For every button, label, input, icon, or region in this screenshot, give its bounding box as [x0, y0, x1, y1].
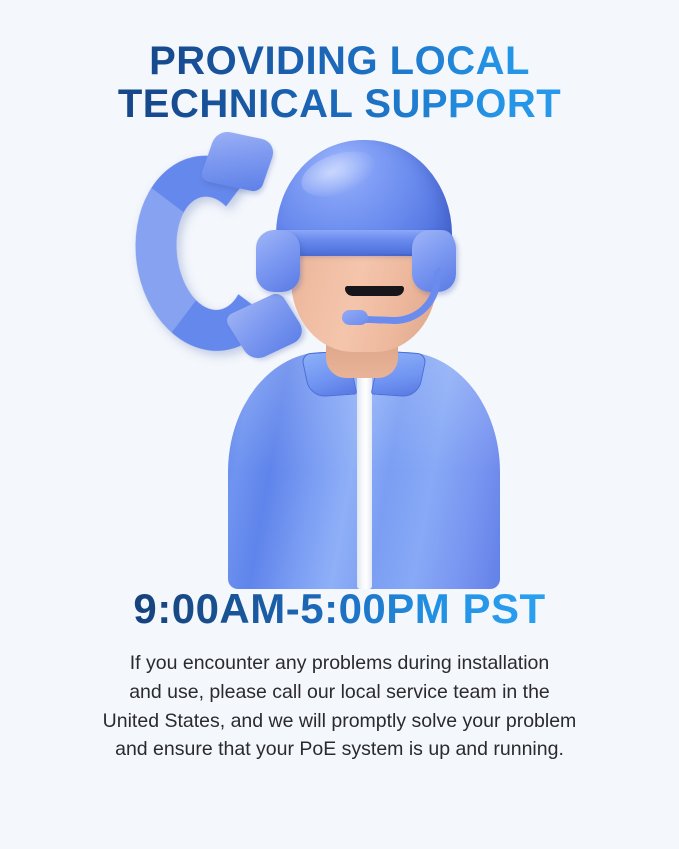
support-description-line-4: and ensure that your PoE system is up an…: [40, 735, 640, 764]
support-description-line-2: and use, please call our local service t…: [40, 678, 640, 707]
jacket-zipper-placket: [357, 366, 372, 589]
support-description-line-3: United States, and we will promptly solv…: [40, 707, 640, 736]
support-info-poster: PROVIDING LOCAL TECHNICAL SUPPORT: [0, 0, 679, 849]
support-description-line-1: If you encounter any problems during ins…: [40, 649, 640, 678]
support-hours: 9:00AM-5:00PM PST: [133, 585, 545, 633]
boom-microphone-tip: [342, 310, 368, 325]
page-title-line-2: TECHNICAL SUPPORT: [60, 83, 620, 126]
support-description: If you encounter any problems during ins…: [40, 649, 640, 764]
page-title-line-1: PROVIDING LOCAL: [60, 40, 620, 83]
page-title: PROVIDING LOCAL TECHNICAL SUPPORT: [60, 40, 620, 126]
support-agent-icon: [0, 134, 679, 589]
headset-earcup-left: [256, 230, 300, 292]
support-illustration: [0, 134, 679, 589]
